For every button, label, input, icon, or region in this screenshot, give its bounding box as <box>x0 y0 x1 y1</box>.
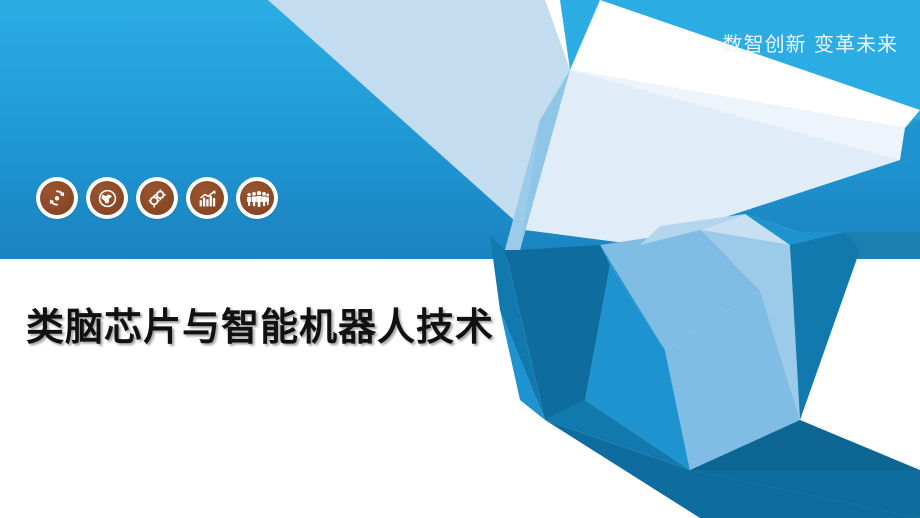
low-poly-artwork <box>0 0 920 518</box>
slide-canvas: 数智创新 变革未来 <box>0 0 920 518</box>
icon-gears[interactable] <box>136 177 178 219</box>
recycle-arrows-icon <box>40 181 74 215</box>
icon-globe[interactable] <box>86 177 128 219</box>
gears-icon <box>140 181 174 215</box>
icon-recycle-arrows[interactable] <box>36 177 78 219</box>
icon-bar-chart-growth[interactable] <box>186 177 228 219</box>
globe-icon <box>90 181 124 215</box>
page-title: 类脑芯片与智能机器人技术 <box>26 296 494 351</box>
icon-strip <box>36 177 278 219</box>
slide-subtitle: 数智创新 变革未来 <box>723 28 898 57</box>
bar-chart-growth-icon <box>190 181 224 215</box>
people-group-icon <box>240 181 274 215</box>
icon-people-group[interactable] <box>236 177 278 219</box>
